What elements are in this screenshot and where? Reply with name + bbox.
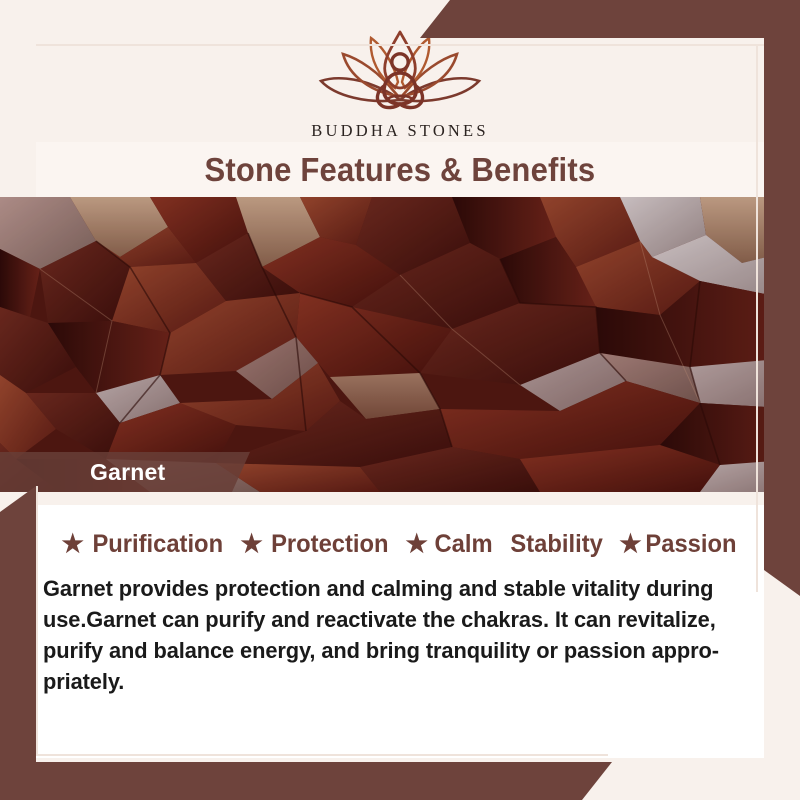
stone-name: Garnet [0,459,165,486]
benefit-label: Calm [434,530,492,559]
stone-name-tag: Garnet [0,452,250,492]
infographic-page: BUDDHA STONES Stone Features & Benefits [0,0,800,800]
benefit-item-stability: ★ Stability [508,530,605,559]
frame-band-left [0,486,36,800]
star-icon: ★ [405,532,427,557]
garnet-crystals-illustration [0,197,800,492]
benefit-item-calm: ★ Calm [405,530,494,559]
benefit-label: Stability [510,530,602,559]
star-icon: ★ [240,532,262,557]
star-icon: ★ [61,532,83,557]
page-title: Stone Features & Benefits [205,151,596,189]
benefit-label: Passion [645,530,736,559]
brand-logo: BUDDHA STONES [0,26,800,141]
lotus-meditation-figure-icon [305,26,495,118]
brand-wordmark: BUDDHA STONES [0,121,800,141]
benefit-label: Protection [271,530,388,559]
stone-photo [0,197,800,492]
benefit-label: Purification [92,530,223,559]
title-banner: Stone Features & Benefits [36,142,764,197]
frame-band-bottom [0,762,612,800]
content-panel: ★ Purification ★ Protection ★ Calm ★ Sta… [36,505,764,758]
benefit-item-protection: ★ Protection [240,530,391,559]
benefits-list: ★ Purification ★ Protection ★ Calm ★ Sta… [36,530,764,559]
star-icon: ★ [619,532,641,557]
benefit-item-purification: ★ Purification [61,530,226,559]
benefit-item-passion: ★ Passion [619,530,738,559]
stone-description: Garnet provides protection and calming a… [43,573,738,697]
